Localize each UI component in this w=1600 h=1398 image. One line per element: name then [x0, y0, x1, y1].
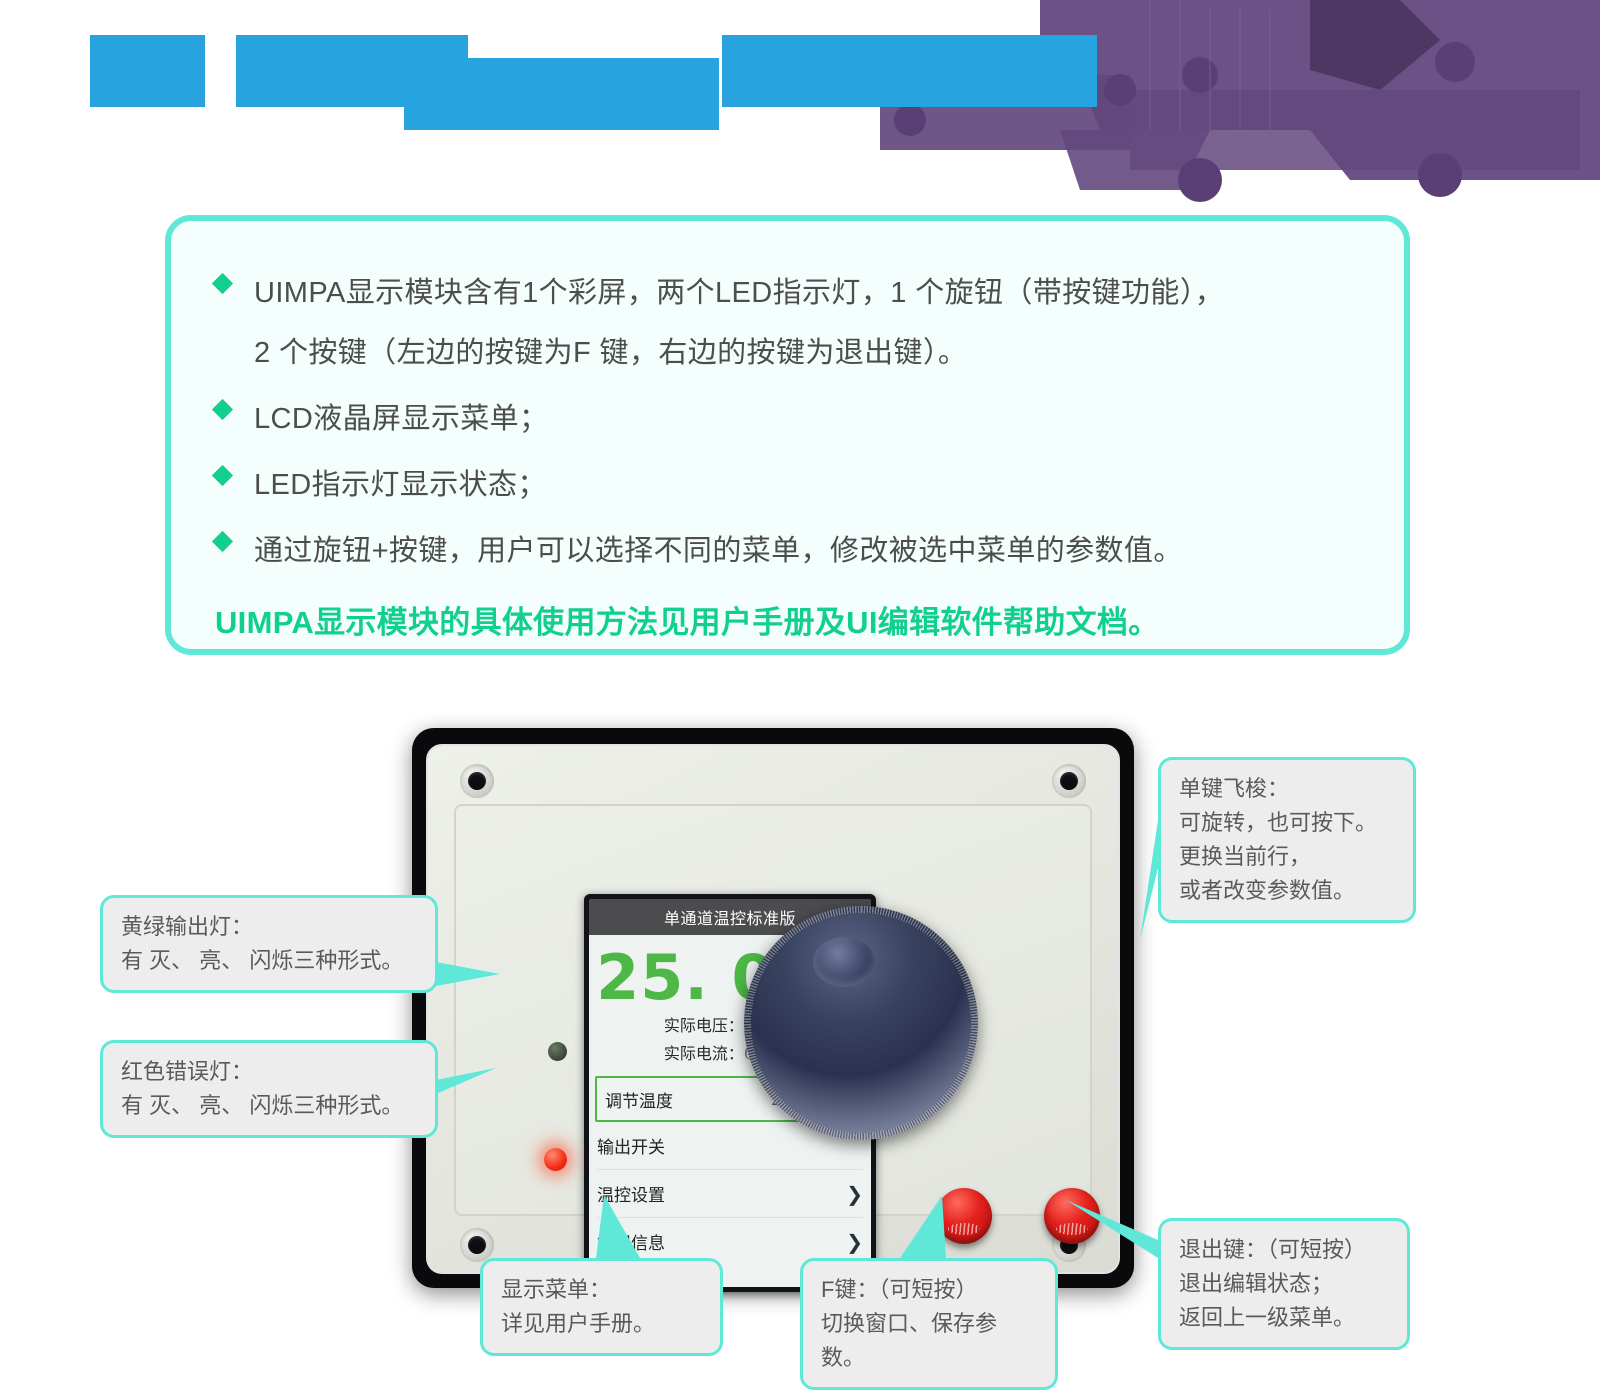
- redacted-title-block-1: [90, 35, 205, 107]
- exit-key-button[interactable]: [1044, 1188, 1100, 1244]
- callout-exit-key: 退出键：（可短按） 退出编辑状态； 返回上一级菜单。: [1158, 1218, 1410, 1350]
- f-key-button[interactable]: [936, 1188, 992, 1244]
- measurement-current-label: 实际电流：: [664, 1044, 744, 1063]
- screw-hole-bottom-left: [460, 1228, 494, 1262]
- highlight-note: UIMPA显示模块的具体使用方法见用户手册及UI编辑软件帮助文档。: [215, 597, 1404, 642]
- callout-f-key: F键：（可短按） 切换窗口、保存参数。: [800, 1258, 1058, 1390]
- device-front-panel: 单通道温控标准版 🔗 25. 000 实际电压：0. 00V 实际电流：0. 0…: [426, 744, 1120, 1274]
- device-photo: 单通道温控标准版 🔗 25. 000 实际电压：0. 00V 实际电流：0. 0…: [412, 728, 1134, 1288]
- bullet-text: UIMPA显示模块含有1个彩屏，两个LED指示灯，1 个旋钮（带按键功能）， 2…: [254, 263, 1224, 383]
- rotary-knob[interactable]: [744, 906, 978, 1140]
- callout-green-led: 黄绿输出灯： 有 灭、 亮、 闪烁三种形式。: [100, 895, 438, 993]
- callout-display-menu: 显示菜单： 详见用户手册。: [480, 1258, 723, 1356]
- menu-item-label: 调节温度: [605, 1087, 673, 1112]
- diamond-bullet-icon: [212, 531, 233, 552]
- green-output-led: [548, 1042, 567, 1061]
- purple-machine-silhouette: [880, 0, 1600, 220]
- callout-red-led: 红色错误灯： 有 灭、 亮、 闪烁三种形式。: [100, 1040, 438, 1138]
- red-error-led: [544, 1148, 567, 1171]
- lcd-title-text: 单通道温控标准版: [664, 905, 796, 929]
- list-item: 通过旋钮+按键，用户可以选择不同的菜单，修改被选中菜单的参数值。: [215, 521, 1404, 581]
- panel-inset: 单通道温控标准版 🔗 25. 000 实际电压：0. 00V 实际电流：0. 0…: [454, 804, 1092, 1216]
- info-card: UIMPA显示模块含有1个彩屏，两个LED指示灯，1 个旋钮（带按键功能）， 2…: [165, 215, 1410, 655]
- callout-knob: 单键飞梭： 可旋转，也可按下。 更换当前行， 或者改变参数值。: [1158, 757, 1416, 923]
- chevron-right-icon: ❯: [846, 1230, 863, 1254]
- menu-item-label: 输出开关: [597, 1133, 665, 1158]
- screw-hole-top-left: [460, 764, 494, 798]
- list-item: LED指示灯显示状态；: [215, 455, 1404, 515]
- diamond-bullet-icon: [212, 399, 233, 420]
- top-decoration-band: [0, 0, 1600, 240]
- bullet-text: 通过旋钮+按键，用户可以选择不同的菜单，修改被选中菜单的参数值。: [254, 521, 1183, 581]
- chevron-right-icon: ❯: [846, 1182, 863, 1206]
- bullet-text: LED指示灯显示状态；: [254, 455, 547, 515]
- list-item: LCD液晶屏显示菜单；: [215, 389, 1404, 449]
- bullet-text: LCD液晶屏显示菜单；: [254, 389, 548, 449]
- screw-hole-top-right: [1052, 764, 1086, 798]
- diamond-bullet-icon: [212, 465, 233, 486]
- diamond-bullet-icon: [212, 273, 233, 294]
- redacted-title-block-4: [722, 35, 1097, 107]
- redacted-title-block-3: [404, 58, 719, 130]
- menu-item-label: 温控设置: [597, 1181, 665, 1206]
- list-item: UIMPA显示模块含有1个彩屏，两个LED指示灯，1 个旋钮（带按键功能）， 2…: [215, 263, 1404, 383]
- bullet-list: UIMPA显示模块含有1个彩屏，两个LED指示灯，1 个旋钮（带按键功能）， 2…: [171, 221, 1404, 581]
- knob-dimple: [813, 937, 875, 987]
- knob-face: [751, 913, 971, 1133]
- menu-item-label: 错误信息: [597, 1229, 665, 1254]
- measurement-voltage-label: 实际电压：: [664, 1016, 744, 1035]
- menu-item-temp-settings[interactable]: 温控设置 ❯: [597, 1170, 863, 1218]
